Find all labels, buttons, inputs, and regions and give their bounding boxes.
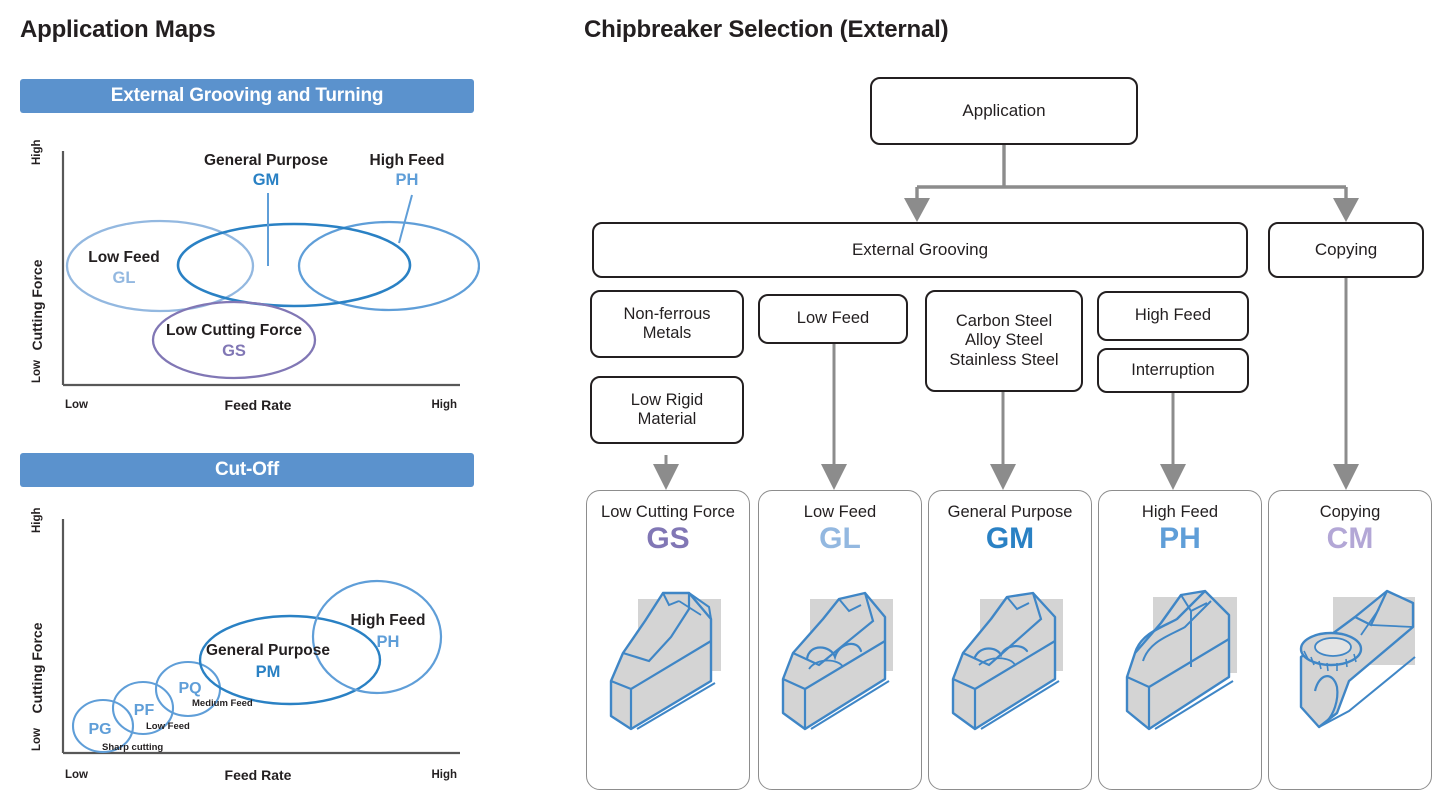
- region-label-ph-name: High Feed: [351, 612, 426, 629]
- diagram-page: Application Maps External Grooving and T…: [0, 0, 1441, 800]
- node-line-2: Material: [638, 410, 697, 429]
- x-axis-title: Feed Rate: [225, 397, 292, 413]
- chart-2-svg: High Low Cutting Force Low Feed Rate Hig…: [20, 503, 480, 798]
- result-label-cm: Copying: [1269, 503, 1431, 521]
- y-axis-high-label: High: [31, 507, 43, 533]
- region-label-pf-code: PF: [134, 702, 155, 719]
- x-axis-high-label: High: [431, 399, 457, 411]
- y-axis-title: Cutting Force: [29, 259, 45, 350]
- region-note-pg: Sharp cutting: [102, 742, 163, 753]
- region-ellipse-gm: [178, 224, 410, 306]
- node-line-1: Non-ferrous: [623, 305, 710, 324]
- arrowhead-external-grooving: [904, 198, 930, 222]
- region-label-pm-name: General Purpose: [206, 642, 330, 659]
- region-label-gl-code: GL: [113, 269, 136, 287]
- region-label-pm-code: PM: [256, 663, 281, 681]
- y-axis-low-label: Low: [31, 728, 43, 751]
- node-line-2: Metals: [643, 324, 692, 343]
- leader-line-ph: [399, 195, 412, 243]
- flow-node-high-feed[interactable]: High Feed: [1097, 291, 1249, 341]
- region-label-gs-code: GS: [222, 342, 246, 360]
- chart-header-cut-off: Cut-Off: [20, 453, 474, 487]
- flow-node-copying[interactable]: Copying: [1268, 222, 1424, 278]
- chart-1-svg: High Low Cutting Force Low Feed Rate Hig…: [20, 135, 480, 430]
- region-ellipse-pm: [200, 616, 380, 704]
- y-axis-title: Cutting Force: [29, 622, 45, 713]
- y-axis-low-label: Low: [31, 360, 43, 383]
- insert-illustration-gl: [759, 561, 921, 741]
- arrowhead-col3: [990, 464, 1016, 490]
- arrowhead-col4: [1160, 464, 1186, 490]
- flow-node-application[interactable]: Application: [870, 77, 1138, 145]
- result-card-ph[interactable]: High Feed PH: [1098, 490, 1262, 790]
- region-ellipse-ph: [299, 222, 479, 310]
- region-label-pg-code: PG: [88, 721, 111, 738]
- x-axis-low-label: Low: [65, 399, 88, 411]
- region-note-pf: Low Feed: [146, 721, 190, 732]
- region-label-ph-code: PH: [396, 171, 419, 189]
- node-line-2: Alloy Steel: [965, 331, 1043, 350]
- region-label-ph-code: PH: [377, 633, 400, 651]
- region-label-gm-code: GM: [253, 171, 280, 189]
- result-code-gm: GM: [929, 523, 1091, 555]
- flow-node-interruption[interactable]: Interruption: [1097, 348, 1249, 393]
- result-code-gs: GS: [587, 523, 749, 555]
- arrowhead-col2: [821, 464, 847, 490]
- x-axis-title: Feed Rate: [225, 767, 292, 783]
- y-axis-high-label: High: [31, 139, 43, 165]
- result-label-gs: Low Cutting Force: [587, 503, 749, 521]
- region-label-ph-name: High Feed: [370, 152, 445, 169]
- insert-illustration-cm: [1269, 561, 1431, 741]
- region-label-pq-code: PQ: [178, 680, 201, 697]
- flow-node-steels[interactable]: Carbon Steel Alloy Steel Stainless Steel: [925, 290, 1083, 392]
- arrowhead-col5: [1333, 464, 1359, 490]
- region-ellipse-gs: [153, 302, 315, 378]
- node-line-1: Carbon Steel: [956, 312, 1052, 331]
- flow-node-low-rigid-material[interactable]: Low Rigid Material: [590, 376, 744, 444]
- arrowhead-col1: [653, 464, 679, 490]
- result-label-ph: High Feed: [1099, 503, 1261, 521]
- arrowhead-copying: [1333, 198, 1359, 222]
- result-card-cm[interactable]: Copying CM: [1268, 490, 1432, 790]
- flow-node-low-feed[interactable]: Low Feed: [758, 294, 908, 344]
- x-axis-low-label: Low: [65, 769, 88, 781]
- region-label-gm-name: General Purpose: [204, 152, 328, 169]
- x-axis-high-label: High: [431, 769, 457, 781]
- result-code-ph: PH: [1099, 523, 1261, 555]
- chart-external-grooving-and-turning: High Low Cutting Force Low Feed Rate Hig…: [20, 135, 480, 430]
- result-label-gl: Low Feed: [759, 503, 921, 521]
- result-code-cm: CM: [1269, 523, 1431, 555]
- insert-illustration-ph: [1099, 561, 1261, 741]
- chipbreaker-flowchart-panel: Application External Grooving Copying No…: [560, 0, 1441, 800]
- region-note-pq: Medium Feed: [192, 698, 253, 709]
- region-label-gl-name: Low Feed: [88, 249, 159, 266]
- result-card-gl[interactable]: Low Feed GL: [758, 490, 922, 790]
- chart-cut-off: High Low Cutting Force Low Feed Rate Hig…: [20, 503, 480, 798]
- insert-illustration-gm: [929, 561, 1091, 741]
- application-maps-panel: External Grooving and Turning High Low C…: [0, 0, 500, 800]
- region-label-gs-name: Low Cutting Force: [166, 322, 302, 339]
- node-line-1: Low Rigid: [631, 391, 703, 410]
- insert-illustration-gs: [587, 561, 749, 741]
- flow-node-non-ferrous-metals[interactable]: Non-ferrous Metals: [590, 290, 744, 358]
- flow-node-external-grooving[interactable]: External Grooving: [592, 222, 1248, 278]
- result-label-gm: General Purpose: [929, 503, 1091, 521]
- chart-header-external-grooving-and-turning: External Grooving and Turning: [20, 79, 474, 113]
- result-card-gs[interactable]: Low Cutting Force GS: [586, 490, 750, 790]
- result-code-gl: GL: [759, 523, 921, 555]
- result-card-gm[interactable]: General Purpose GM: [928, 490, 1092, 790]
- node-line-3: Stainless Steel: [949, 351, 1058, 370]
